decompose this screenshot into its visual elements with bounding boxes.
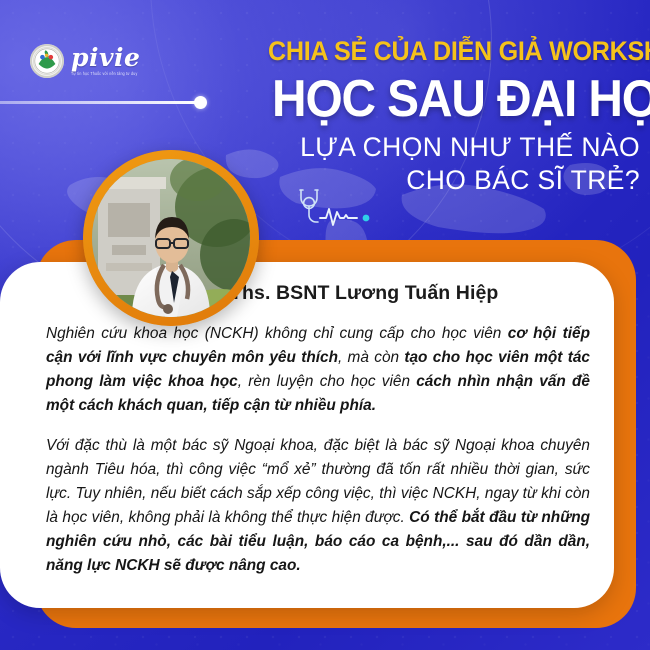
subtitle-line-1: LỰA CHỌN NHƯ THẾ NÀO	[240, 132, 640, 163]
kicker-text: CHIA SẺ CỦA DIỄN GIẢ WORKSHOP	[268, 38, 640, 65]
brand-name: pivie	[71, 45, 140, 70]
speaker-avatar[interactable]	[83, 150, 259, 326]
body-text: Nghiên cứu khoa học (NCKH) không chỉ cun…	[46, 322, 590, 578]
stethoscope-heartbeat-icon	[287, 186, 385, 230]
brand-logo[interactable]: pivie Tự tin học Thuốc với nền tảng tư d…	[30, 44, 140, 78]
lotus-seal-icon	[30, 44, 64, 78]
body-run: , mà còn	[338, 349, 404, 366]
body-run: , rèn luyện cho học viên	[238, 373, 417, 390]
header-rule-dot-icon	[194, 96, 207, 109]
brand-tagline: Tự tin học Thuốc với nền tảng tư duy	[71, 73, 140, 77]
body-paragraph: Nghiên cứu khoa học (NCKH) không chỉ cun…	[46, 322, 590, 418]
page-title: HỌC SAU ĐẠI HỌC	[272, 73, 640, 125]
poster-canvas: pivie Tự tin học Thuốc với nền tảng tư d…	[0, 0, 650, 650]
header-rule	[0, 101, 196, 104]
header-text-block: CHIA SẺ CỦA DIỄN GIẢ WORKSHOP HỌC SAU ĐẠ…	[240, 38, 640, 197]
body-run: Nghiên cứu khoa học (NCKH) không chỉ cun…	[46, 325, 508, 342]
speaker-name: Ths. BSNT Lương Tuấn Hiệp	[230, 282, 498, 305]
doctor-portrait-photo	[92, 159, 250, 317]
body-paragraph: Với đặc thù là một bác sỹ Ngoại khoa, đặ…	[46, 434, 590, 578]
